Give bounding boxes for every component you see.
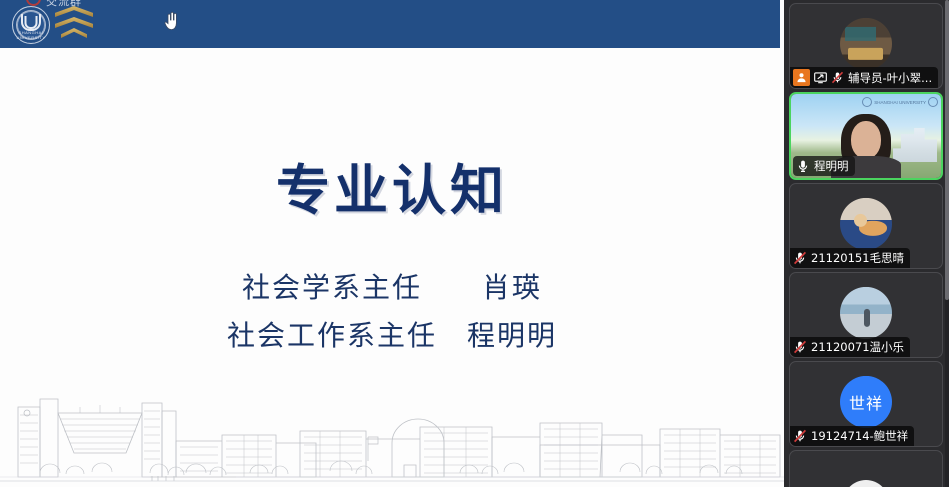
sidebar-scrollbar-thumb[interactable] bbox=[945, 0, 949, 300]
participant-tile[interactable]: 21120151毛思晴 bbox=[789, 183, 943, 269]
watermark-text: SHANGHAI UNIVERSITY bbox=[874, 100, 926, 105]
gold-chevron-icon bbox=[55, 5, 95, 45]
participant-tile[interactable]: 世祥 19124714-鲍世祥 bbox=[789, 361, 943, 447]
campus-skyline-illustration bbox=[0, 377, 784, 487]
microphone-muted-icon bbox=[793, 429, 807, 443]
microphone-muted-icon bbox=[793, 251, 807, 265]
shared-screen-area[interactable]: 交流群 SHANGHAI UNIVERSITY 专业认知 bbox=[0, 0, 784, 487]
video-watermark: SHANGHAI UNIVERSITY bbox=[862, 97, 938, 107]
avatar bbox=[840, 18, 892, 70]
avatar: 世祥 bbox=[840, 376, 892, 428]
sidebar-scrollbar-track[interactable] bbox=[945, 0, 949, 487]
participant-tile[interactable]: 21120071温小乐 bbox=[789, 272, 943, 358]
participant-sidebar[interactable]: 辅导员-叶小翠... SHANGHAI UNIVERSITY bbox=[784, 0, 949, 487]
participant-namebar: 21120151毛思晴 bbox=[790, 248, 910, 268]
slide-title: 专业认知 bbox=[0, 146, 784, 225]
seal-inner-u-shape bbox=[25, 16, 38, 29]
host-badge-icon bbox=[793, 69, 810, 86]
participant-tile[interactable]: 辅导员-叶小翠... bbox=[789, 3, 943, 89]
screen-share-icon bbox=[814, 72, 827, 84]
participant-namebar: 辅导员-叶小翠... bbox=[790, 67, 938, 88]
chevron-layer-2 bbox=[55, 17, 93, 28]
chevron-layer-3 bbox=[61, 28, 87, 38]
microphone-icon bbox=[796, 159, 810, 173]
avatar bbox=[840, 198, 892, 250]
presentation-slide: 交流群 SHANGHAI UNIVERSITY 专业认知 bbox=[0, 0, 784, 487]
cat-photo-avatar bbox=[840, 198, 892, 250]
seal-label: SHANGHAI UNIVERSITY bbox=[13, 30, 49, 40]
beach-photo-avatar bbox=[840, 287, 892, 339]
avatar-shape-2 bbox=[854, 214, 867, 227]
participant-name: 辅导员-叶小翠... bbox=[848, 70, 932, 86]
university-seal-icon: SHANGHAI UNIVERSITY bbox=[12, 6, 50, 44]
watermark-circle-icon-2 bbox=[928, 97, 938, 107]
avatar bbox=[840, 287, 892, 339]
default-avatar-icon bbox=[843, 480, 889, 487]
room-photo-avatar bbox=[840, 18, 892, 70]
video-background-building bbox=[893, 128, 937, 162]
avatar-shape-1 bbox=[845, 27, 876, 41]
chevron-layer-1 bbox=[55, 6, 93, 17]
microphone-muted-icon bbox=[831, 71, 844, 84]
participant-tile-active-speaker[interactable]: SHANGHAI UNIVERSITY 程明明 bbox=[789, 92, 943, 180]
participant-name: 19124714-鲍世祥 bbox=[811, 428, 908, 444]
slide-header-bar: 交流群 SHANGHAI UNIVERSITY bbox=[0, 0, 780, 48]
video-conference-window: 交流群 SHANGHAI UNIVERSITY 专业认知 bbox=[0, 0, 949, 487]
slide-body-lines: 社会学系主任 肖瑛 社会工作系主任 程明明 bbox=[0, 264, 784, 360]
participant-name: 21120151毛思晴 bbox=[811, 250, 904, 266]
slide-line-2: 社会工作系主任 程明明 bbox=[0, 312, 784, 360]
participant-name: 21120071温小乐 bbox=[811, 339, 904, 355]
watermark-circle-icon bbox=[862, 97, 872, 107]
avatar-shape-2 bbox=[848, 48, 882, 59]
participant-namebar: 程明明 bbox=[793, 156, 855, 176]
video-person-face bbox=[851, 121, 881, 159]
microphone-muted-icon bbox=[793, 340, 807, 354]
avatar-shape-1 bbox=[864, 309, 870, 327]
initials-avatar: 世祥 bbox=[840, 376, 892, 428]
participant-namebar: 19124714-鲍世祥 bbox=[790, 426, 914, 446]
slide-line-1: 社会学系主任 肖瑛 bbox=[0, 264, 784, 312]
participant-namebar: 21120071温小乐 bbox=[790, 337, 910, 357]
participant-name: 程明明 bbox=[814, 158, 849, 174]
participant-tile-partial[interactable] bbox=[789, 450, 943, 487]
mouse-pointer-hand-icon bbox=[163, 11, 179, 31]
